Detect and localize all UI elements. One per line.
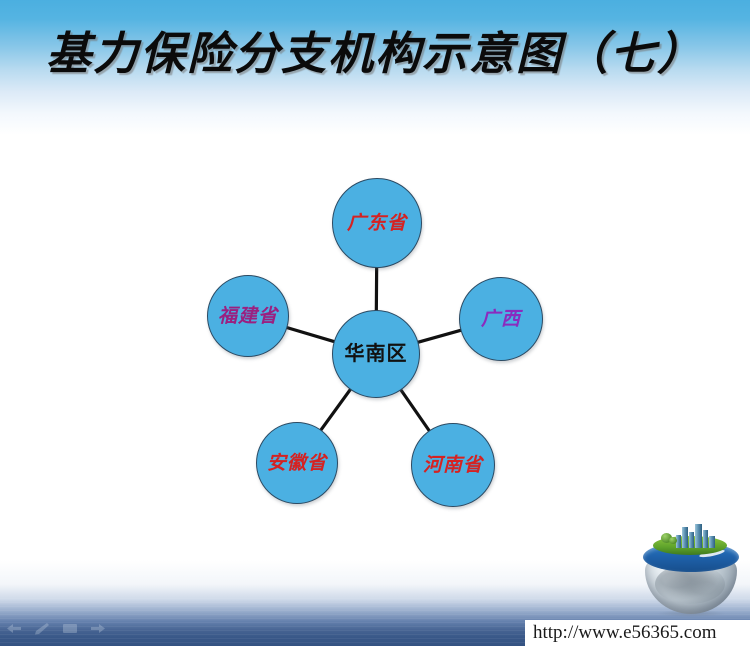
diagram-node-center[interactable]: 华南区 [332,310,420,398]
globe-city-skyline [674,523,718,548]
previous-slide-icon[interactable] [6,622,22,635]
site-watermark: http://www.e56365.com [525,620,750,646]
diagram-node-label: 广东省 [347,214,407,233]
slide-menu-icon[interactable] [62,622,78,635]
watermark-url: http://www.e56365.com [525,622,716,644]
diagram-node-label: 广西 [481,310,521,329]
presentation-slide: 基力保险分支机构示意图（七） 广东省广西河南省安徽省福建省华南区 http://… [0,0,750,646]
diagram-node-branch-2[interactable]: 河南省 [411,423,495,507]
org-diagram: 广东省广西河南省安徽省福建省华南区 [0,0,750,646]
diagram-node-branch-0[interactable]: 广东省 [332,178,422,268]
pen-annotate-icon[interactable] [34,622,50,635]
slideshow-nav-controls[interactable] [6,618,102,638]
diagram-node-label: 华南区 [345,344,408,364]
diagram-node-label: 安徽省 [267,454,327,473]
diagram-node-branch-4[interactable]: 福建省 [207,275,289,357]
globe-illustration [641,522,741,618]
diagram-node-branch-3[interactable]: 安徽省 [256,422,338,504]
next-slide-icon[interactable] [90,622,106,635]
globe-tree-2 [669,537,677,544]
diagram-node-label: 河南省 [423,456,483,475]
diagram-node-branch-1[interactable]: 广西 [459,277,543,361]
diagram-node-label: 福建省 [218,307,278,326]
